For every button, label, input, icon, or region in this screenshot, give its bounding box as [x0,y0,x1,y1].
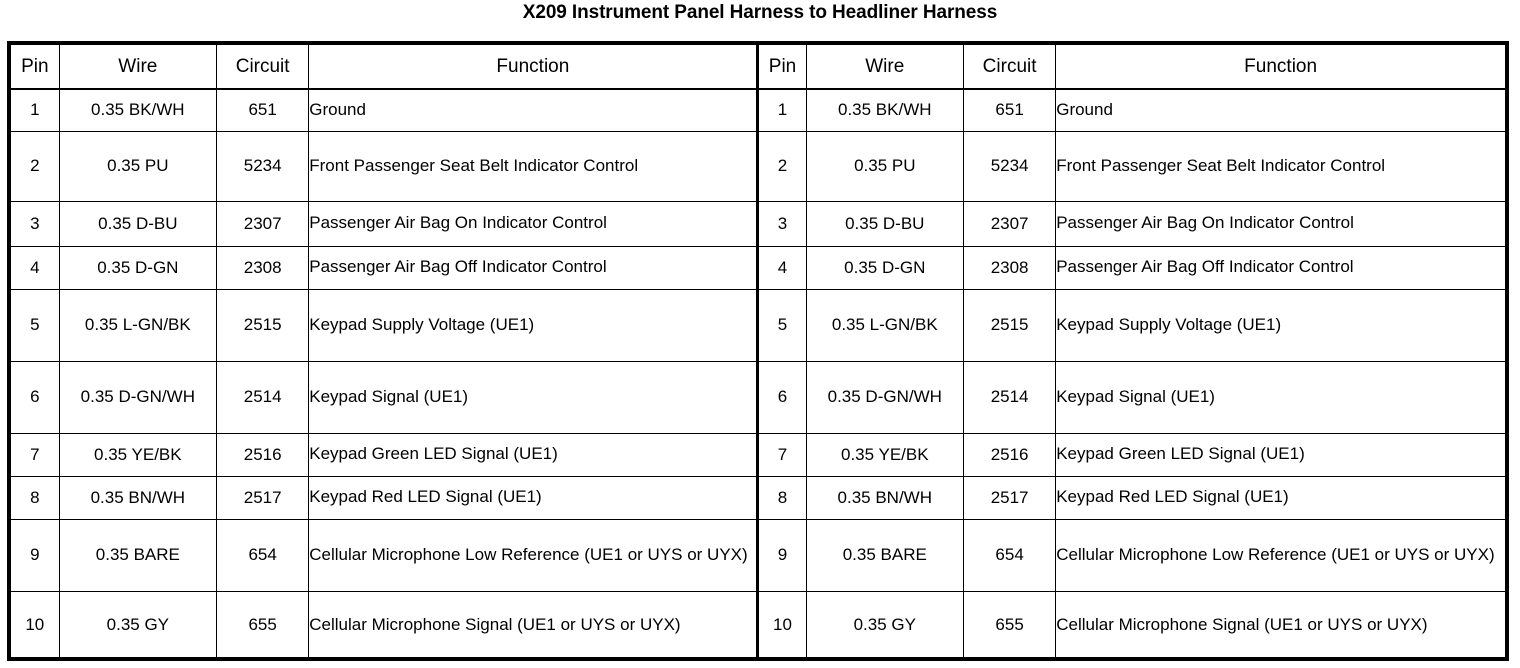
document-page: X209 Instrument Panel Harness to Headlin… [0,0,1520,668]
cell-pin-left: 9 [11,519,59,591]
cell-circuit-left: 2514 [217,361,309,433]
cell-pin-left: 1 [11,89,59,131]
cell-function-right: Passenger Air Bag Off Indicator Control [1056,246,1505,289]
cell-wire-right: 0.35 D-GN [806,246,963,289]
table-row: 10.35 BK/WH651Ground10.35 BK/WH651Ground [11,89,1505,131]
cell-function-left: Keypad Supply Voltage (UE1) [309,289,758,361]
page-title: X209 Instrument Panel Harness to Headlin… [0,2,1520,24]
cell-circuit-right: 2516 [963,433,1055,476]
cell-circuit-left: 654 [217,519,309,591]
cell-pin-left: 8 [11,476,59,519]
table-row: 20.35 PU5234Front Passenger Seat Belt In… [11,131,1505,201]
cell-function-left: Keypad Red LED Signal (UE1) [309,476,758,519]
cell-pin-left: 5 [11,289,59,361]
cell-wire-left: 0.35 BK/WH [59,89,216,131]
column-header-pin-left: Pin [11,45,59,89]
table-row: 80.35 BN/WH2517Keypad Red LED Signal (UE… [11,476,1505,519]
cell-pin-left: 7 [11,433,59,476]
harness-pinout-table-container: Pin Wire Circuit Function Pin Wire Circu… [7,41,1509,661]
table-row: 70.35 YE/BK2516Keypad Green LED Signal (… [11,433,1505,476]
cell-wire-left: 0.35 BARE [59,519,216,591]
cell-function-right: Keypad Signal (UE1) [1056,361,1505,433]
cell-function-right: Passenger Air Bag On Indicator Control [1056,201,1505,246]
cell-function-right: Front Passenger Seat Belt Indicator Cont… [1056,131,1505,201]
cell-wire-right: 0.35 GY [806,591,963,659]
cell-circuit-left: 2515 [217,289,309,361]
cell-function-right: Keypad Supply Voltage (UE1) [1056,289,1505,361]
cell-function-right: Keypad Green LED Signal (UE1) [1056,433,1505,476]
table-row: 60.35 D-GN/WH2514Keypad Signal (UE1)60.3… [11,361,1505,433]
cell-circuit-right: 5234 [963,131,1055,201]
table-row: 90.35 BARE654Cellular Microphone Low Ref… [11,519,1505,591]
cell-function-right: Cellular Microphone Low Reference (UE1 o… [1056,519,1505,591]
cell-circuit-right: 2517 [963,476,1055,519]
column-header-function-left: Function [309,45,758,89]
cell-circuit-right: 2307 [963,201,1055,246]
cell-pin-left: 4 [11,246,59,289]
cell-pin-right: 7 [758,433,806,476]
cell-function-right: Cellular Microphone Signal (UE1 or UYS o… [1056,591,1505,659]
cell-circuit-right: 2308 [963,246,1055,289]
table-row: 50.35 L-GN/BK2515Keypad Supply Voltage (… [11,289,1505,361]
cell-circuit-left: 5234 [217,131,309,201]
cell-circuit-right: 2515 [963,289,1055,361]
cell-wire-left: 0.35 PU [59,131,216,201]
table-header-row: Pin Wire Circuit Function Pin Wire Circu… [11,45,1505,89]
cell-circuit-left: 2307 [217,201,309,246]
column-header-pin-right: Pin [758,45,806,89]
cell-wire-right: 0.35 D-GN/WH [806,361,963,433]
cell-pin-right: 10 [758,591,806,659]
cell-wire-right: 0.35 PU [806,131,963,201]
cell-circuit-left: 2516 [217,433,309,476]
cell-wire-left: 0.35 D-GN [59,246,216,289]
cell-wire-left: 0.35 L-GN/BK [59,289,216,361]
cell-wire-right: 0.35 YE/BK [806,433,963,476]
cell-function-left: Passenger Air Bag Off Indicator Control [309,246,758,289]
column-header-wire-left: Wire [59,45,216,89]
cell-pin-left: 2 [11,131,59,201]
cell-wire-right: 0.35 BARE [806,519,963,591]
cell-circuit-left: 655 [217,591,309,659]
cell-function-right: Ground [1056,89,1505,131]
cell-circuit-left: 2517 [217,476,309,519]
cell-function-left: Keypad Signal (UE1) [309,361,758,433]
cell-function-left: Keypad Green LED Signal (UE1) [309,433,758,476]
table-row: 100.35 GY655Cellular Microphone Signal (… [11,591,1505,659]
cell-wire-right: 0.35 D-BU [806,201,963,246]
cell-function-left: Passenger Air Bag On Indicator Control [309,201,758,246]
cell-pin-right: 9 [758,519,806,591]
cell-circuit-right: 2514 [963,361,1055,433]
cell-wire-left: 0.35 D-BU [59,201,216,246]
cell-pin-right: 8 [758,476,806,519]
column-header-function-right: Function [1056,45,1505,89]
cell-pin-right: 1 [758,89,806,131]
cell-pin-left: 3 [11,201,59,246]
cell-circuit-left: 2308 [217,246,309,289]
cell-function-left: Front Passenger Seat Belt Indicator Cont… [309,131,758,201]
cell-wire-left: 0.35 YE/BK [59,433,216,476]
cell-wire-left: 0.35 D-GN/WH [59,361,216,433]
cell-pin-right: 3 [758,201,806,246]
cell-function-left: Cellular Microphone Signal (UE1 or UYS o… [309,591,758,659]
cell-wire-right: 0.35 BN/WH [806,476,963,519]
table-row: 30.35 D-BU2307Passenger Air Bag On Indic… [11,201,1505,246]
cell-pin-right: 4 [758,246,806,289]
cell-pin-left: 6 [11,361,59,433]
cell-circuit-right: 651 [963,89,1055,131]
cell-wire-left: 0.35 GY [59,591,216,659]
cell-pin-right: 5 [758,289,806,361]
cell-wire-right: 0.35 L-GN/BK [806,289,963,361]
harness-pinout-table: Pin Wire Circuit Function Pin Wire Circu… [11,45,1505,659]
column-header-circuit-left: Circuit [217,45,309,89]
cell-circuit-left: 651 [217,89,309,131]
cell-circuit-right: 655 [963,591,1055,659]
column-header-wire-right: Wire [806,45,963,89]
cell-pin-left: 10 [11,591,59,659]
cell-circuit-right: 654 [963,519,1055,591]
cell-wire-right: 0.35 BK/WH [806,89,963,131]
cell-function-right: Keypad Red LED Signal (UE1) [1056,476,1505,519]
table-row: 40.35 D-GN2308Passenger Air Bag Off Indi… [11,246,1505,289]
cell-wire-left: 0.35 BN/WH [59,476,216,519]
cell-function-left: Cellular Microphone Low Reference (UE1 o… [309,519,758,591]
cell-pin-right: 2 [758,131,806,201]
table-body: 10.35 BK/WH651Ground10.35 BK/WH651Ground… [11,89,1505,659]
cell-pin-right: 6 [758,361,806,433]
column-header-circuit-right: Circuit [963,45,1055,89]
cell-function-left: Ground [309,89,758,131]
table-header: Pin Wire Circuit Function Pin Wire Circu… [11,45,1505,89]
